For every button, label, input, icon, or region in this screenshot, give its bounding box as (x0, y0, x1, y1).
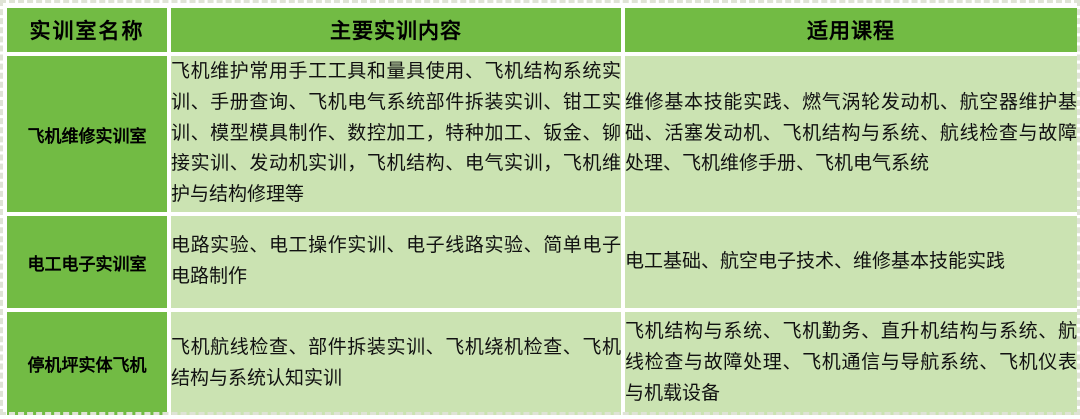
cell-lab-name-3: 停机坪实体飞机 (7, 312, 167, 415)
laboratory-training-table: 实训室名称 主要实训内容 适用课程 飞机维修实训室 飞机维护常用手工工具和量具使… (3, 4, 1080, 419)
table-header: 实训室名称 主要实训内容 适用课程 (7, 8, 1077, 52)
column-header-applicable-courses: 适用课程 (625, 8, 1077, 52)
table-row: 飞机维修实训室 飞机维护常用手工工具和量具使用、飞机结构系统实训、手册查询、飞机… (7, 56, 1077, 212)
header-row: 实训室名称 主要实训内容 适用课程 (7, 8, 1077, 52)
table-body: 飞机维修实训室 飞机维护常用手工工具和量具使用、飞机结构系统实训、手册查询、飞机… (7, 56, 1077, 415)
cell-main-content-2: 电路实验、电工操作实训、电子线路实验、简单电子电路制作 (171, 216, 621, 308)
cell-courses-1: 维修基本技能实践、燃气涡轮发动机、航空器维护基础、活塞发动机、飞机结构与系统、航… (625, 56, 1077, 212)
column-header-main-content: 主要实训内容 (171, 8, 621, 52)
cell-lab-name-1: 飞机维修实训室 (7, 56, 167, 212)
cell-lab-name-2: 电工电子实训室 (7, 216, 167, 308)
cell-main-content-3: 飞机航线检查、部件拆装实训、飞机绕机检查、飞机结构与系统认知实训 (171, 312, 621, 415)
table-row: 电工电子实训室 电路实验、电工操作实训、电子线路实验、简单电子电路制作 电工基础… (7, 216, 1077, 308)
table-row: 停机坪实体飞机 飞机航线检查、部件拆装实训、飞机绕机检查、飞机结构与系统认知实训… (7, 312, 1077, 415)
column-header-lab-name: 实训室名称 (7, 8, 167, 52)
cell-courses-2: 电工基础、航空电子技术、维修基本技能实践 (625, 216, 1077, 308)
cell-main-content-1: 飞机维护常用手工工具和量具使用、飞机结构系统实训、手册查询、飞机电气系统部件拆装… (171, 56, 621, 212)
cell-courses-3: 飞机结构与系统、飞机勤务、直升机结构与系统、航线检查与故障处理、飞机通信与导航系… (625, 312, 1077, 415)
lab-table-container: 实训室名称 主要实训内容 适用课程 飞机维修实训室 飞机维护常用手工工具和量具使… (0, 0, 1080, 415)
